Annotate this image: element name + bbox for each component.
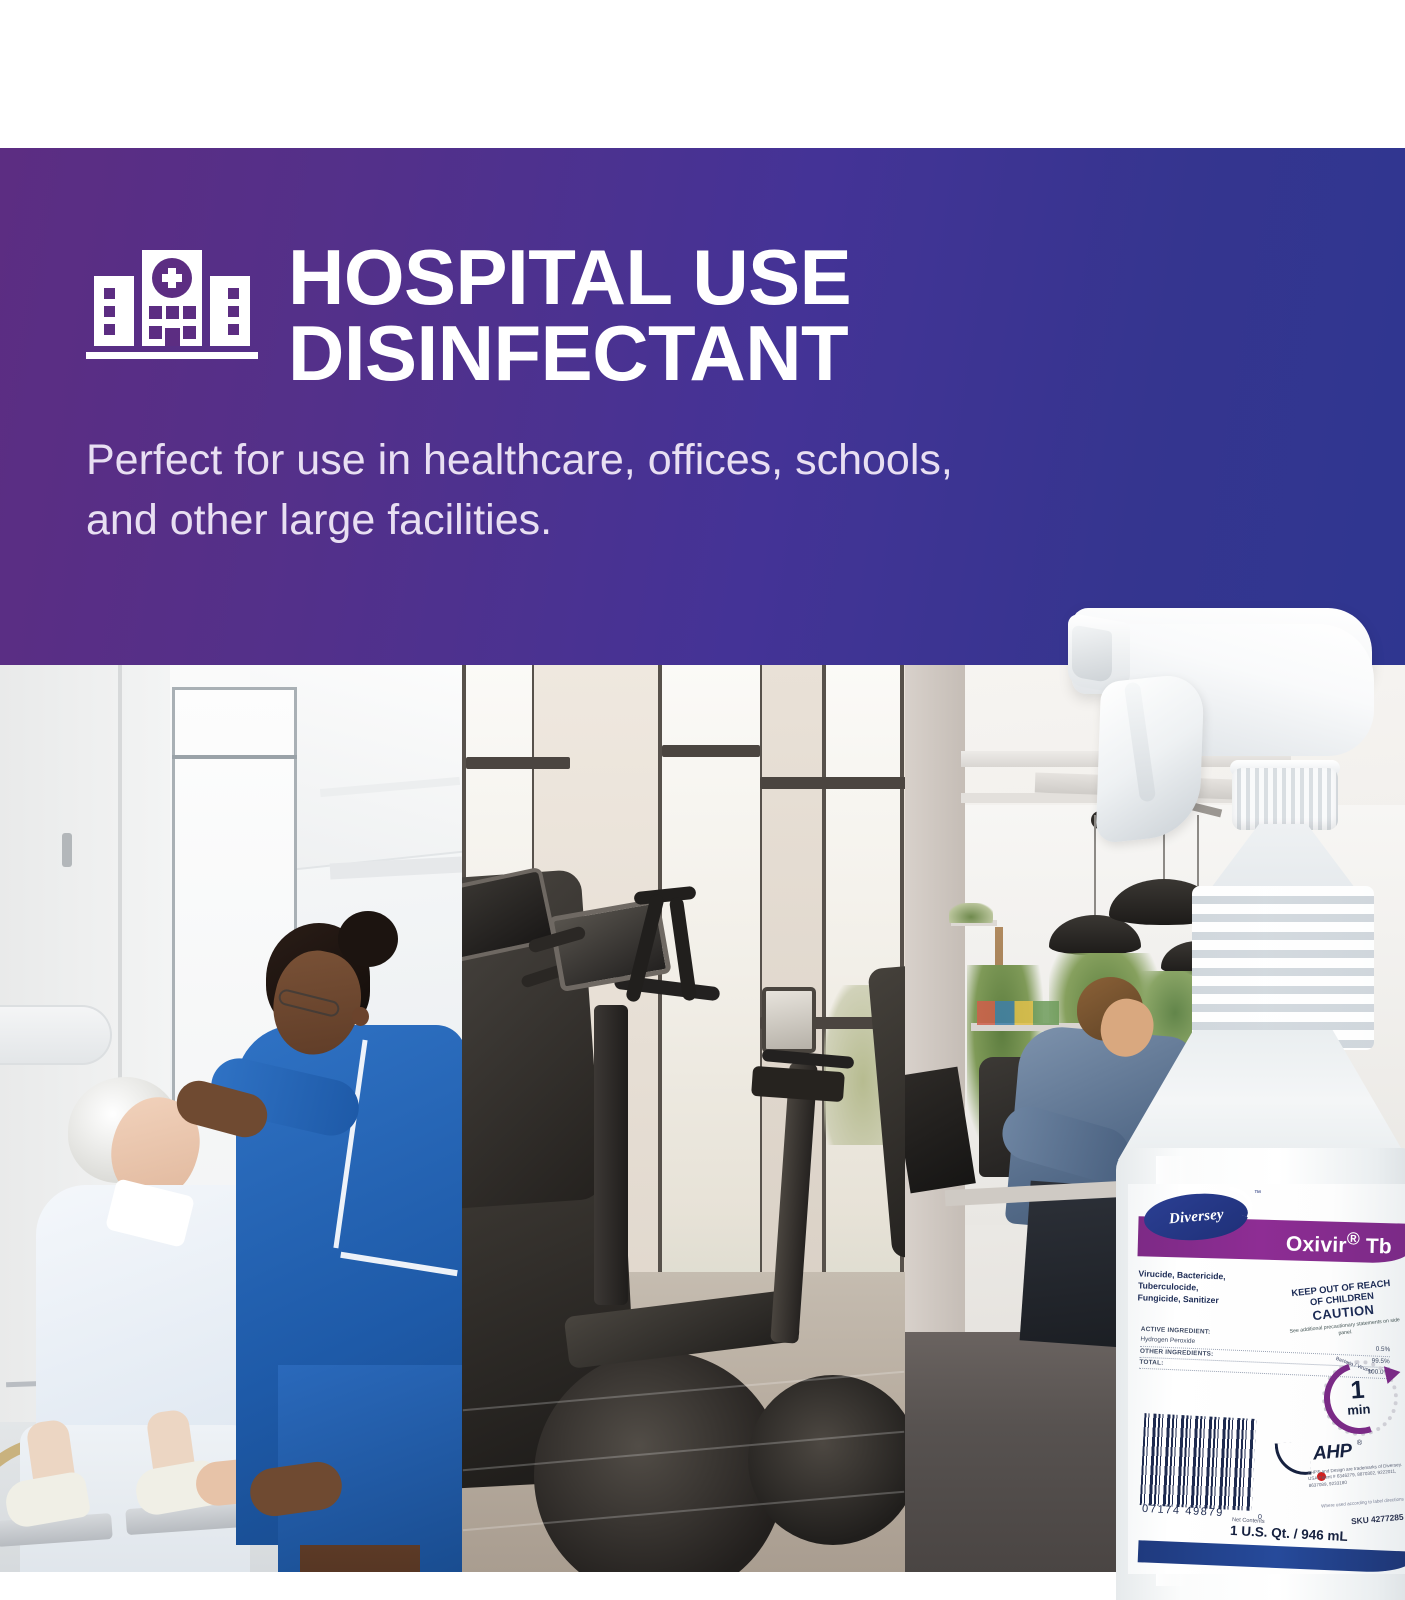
nurse-ear [352, 1007, 369, 1026]
promo-banner: HOSPITAL USE DISINFECTANT Perfect for us… [0, 148, 1405, 665]
bottle-neck-cone [1208, 824, 1358, 892]
sprayer-nozzle-face [1072, 624, 1112, 683]
kill-time-badge: 1 min Bacteria / Viruses [1319, 1357, 1400, 1438]
ahp-reg-mark: ® [1357, 1440, 1362, 1447]
headline-line-1: HOSPITAL USE [288, 233, 851, 321]
sku-note: Where used according to label directions [1321, 1496, 1404, 1508]
banner-headline: HOSPITAL USE DISINFECTANT [288, 238, 851, 391]
shelf-plant [949, 903, 993, 923]
nurse-legs [300, 1545, 420, 1572]
top-white-margin [0, 0, 1405, 148]
hospital-building-icon [86, 246, 258, 374]
product-label: Diversey ™ Oxivir® Tb Virucide, Bacteric… [1128, 1184, 1405, 1574]
spray-bottle: Diversey ™ Oxivir® Tb Virucide, Bacteric… [1060, 600, 1405, 1600]
product-name-suffix: Tb [1366, 1235, 1393, 1259]
headline-row: HOSPITAL USE DISINFECTANT [86, 238, 1186, 391]
door-handle [62, 833, 72, 867]
window-mullion [172, 755, 297, 759]
barcode [1140, 1413, 1257, 1511]
kill-time-arc-label: Bacteria / Viruses [1315, 1357, 1405, 1447]
banner-subtitle: Perfect for use in healthcare, offices, … [86, 431, 1006, 550]
nurse-hair-bun [338, 911, 398, 967]
ahp-fine-print: AHP® and Design are trademarks of Divers… [1307, 1462, 1404, 1490]
gym-mullion-2 [662, 745, 760, 757]
product-name: Oxivir® Tb [1286, 1227, 1393, 1260]
net-contents-value: 1 U.S. Qt. / 946 mL [1230, 1523, 1348, 1544]
bottle-collar-ribbed [1232, 768, 1338, 830]
gym-mullion-1 [466, 757, 570, 769]
active-ingredient-pct: 0.5% [1375, 1345, 1390, 1356]
ahp-logo: AHP [1312, 1440, 1353, 1465]
gym-panel [462, 665, 905, 1572]
headline-line-2: DISINFECTANT [288, 316, 851, 392]
books [977, 1001, 1059, 1025]
bottle-neck-ribs [1192, 886, 1374, 1050]
ahp-arc-icon [1275, 1441, 1312, 1478]
product-name-reg: ® [1347, 1228, 1361, 1248]
gym-mullion-3 [760, 777, 905, 789]
handrail [0, 1005, 112, 1065]
product-claims: Virucide, Bactericide, Tuberculocide, Fu… [1137, 1267, 1288, 1309]
banner-content: HOSPITAL USE DISINFECTANT Perfect for us… [86, 238, 1186, 550]
elliptical-3-console [762, 987, 816, 1053]
elliptical-2-column [594, 1005, 628, 1305]
elliptical-3-flywheel [748, 1375, 905, 1545]
diversey-wordmark: Diversey [1168, 1206, 1224, 1228]
label-blue-band [1138, 1540, 1405, 1574]
product-name-main: Oxivir [1286, 1233, 1347, 1258]
healthcare-panel [0, 665, 462, 1572]
elliptical-3-pedal [751, 1066, 845, 1102]
diversey-tm: ™ [1254, 1190, 1261, 1197]
total-label: TOTAL: [1139, 1358, 1163, 1369]
sku-label: SKU 4277285 [1351, 1512, 1404, 1527]
